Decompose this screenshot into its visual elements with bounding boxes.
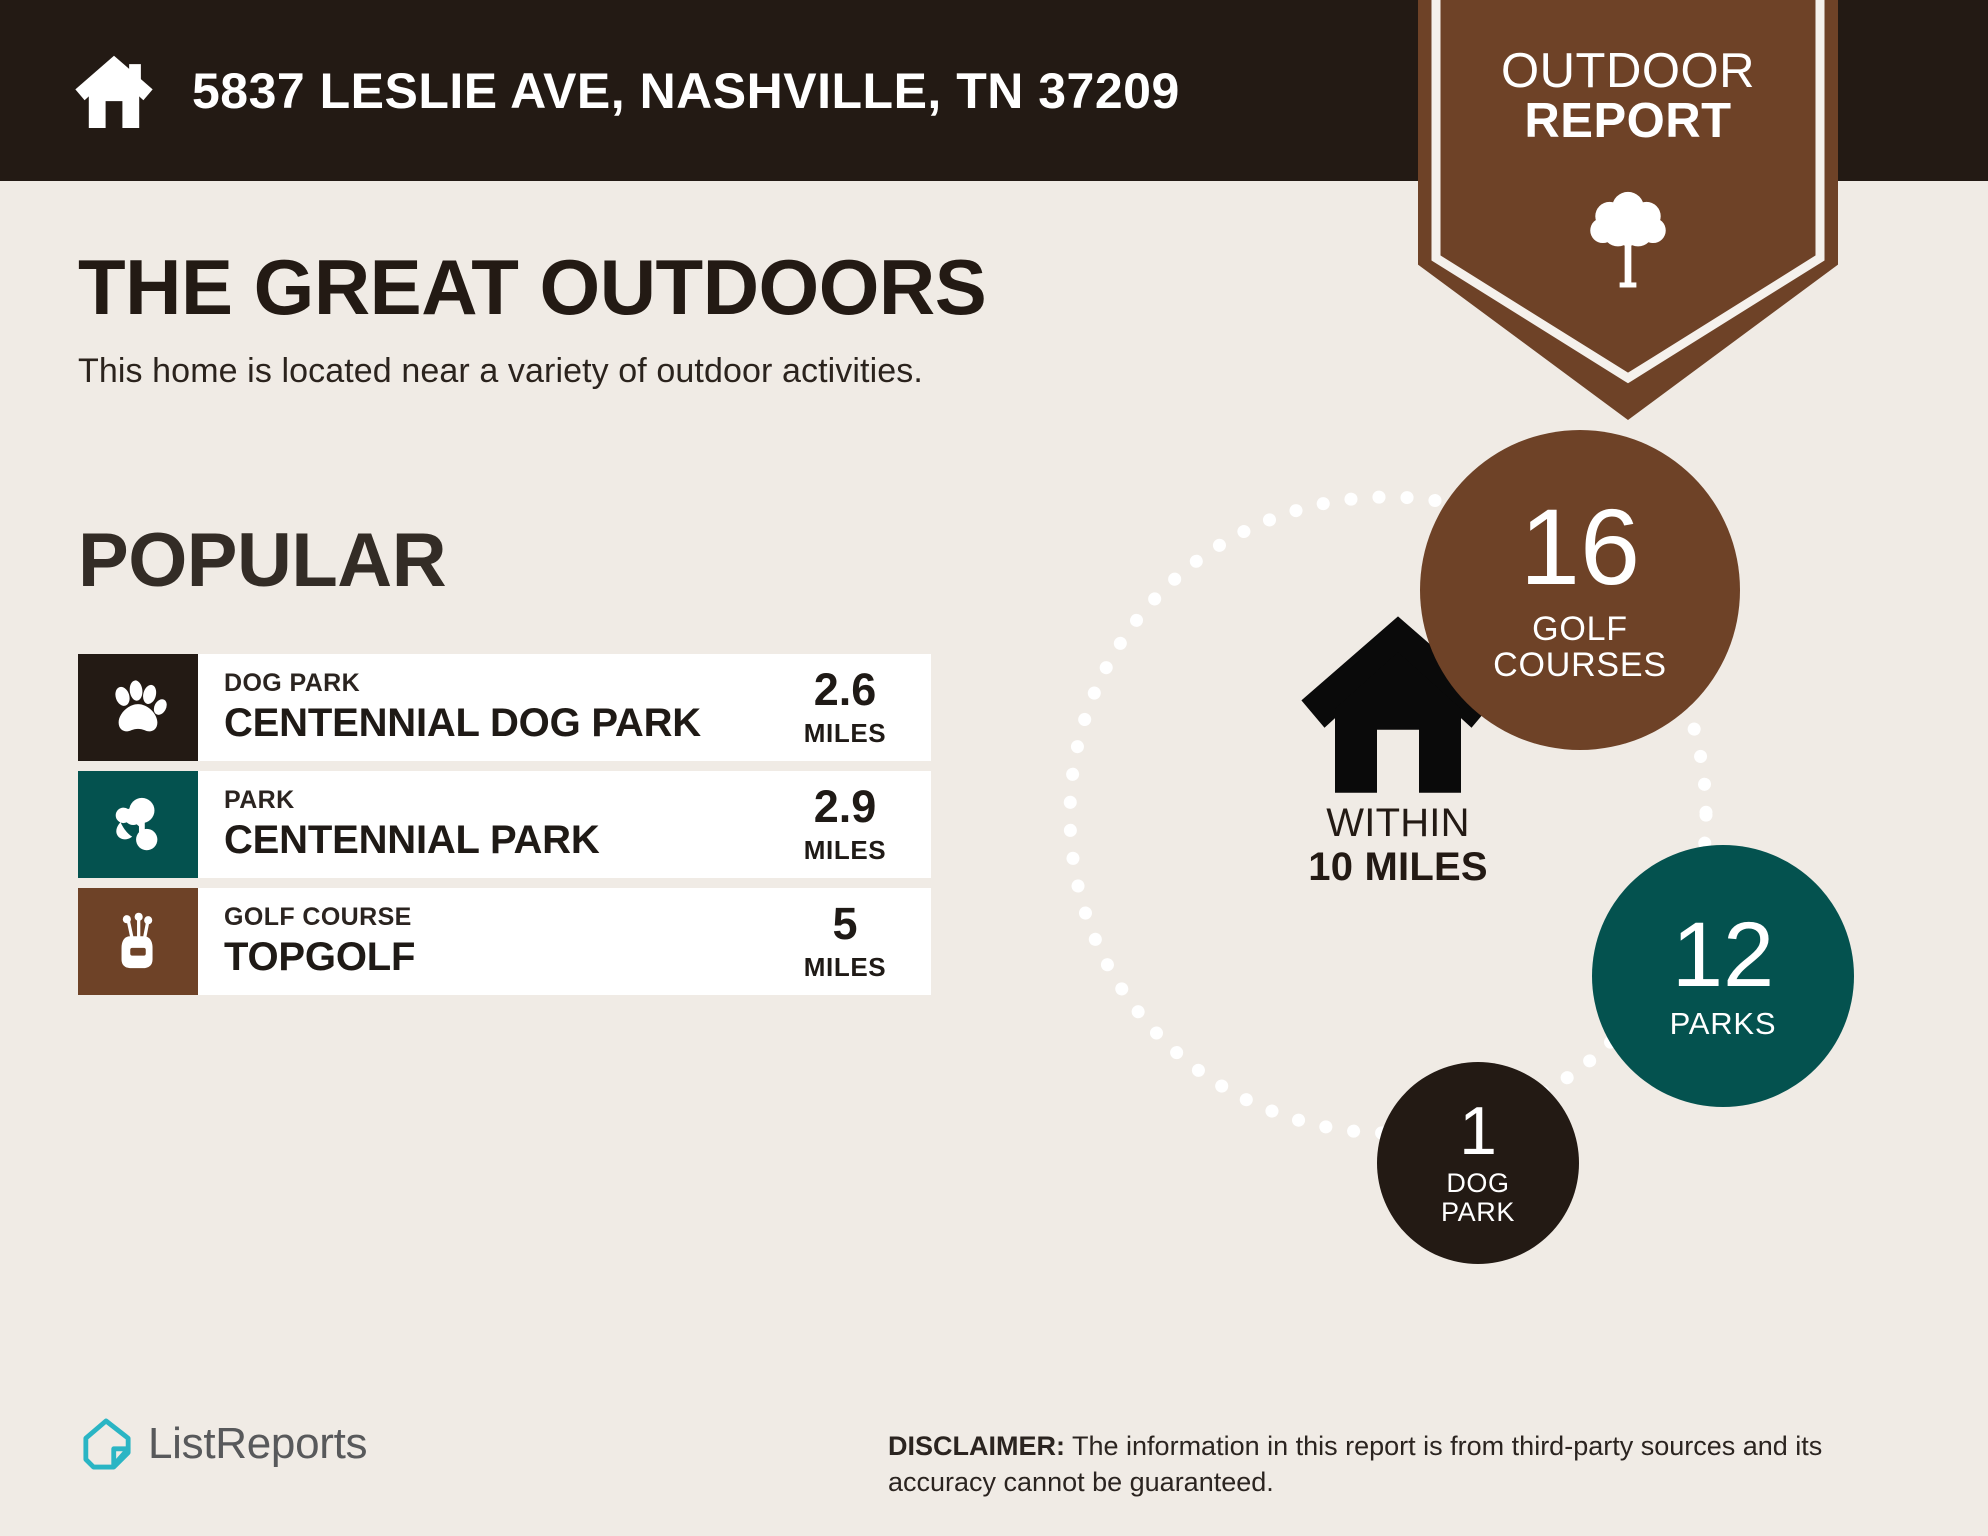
trees-icon-box bbox=[78, 771, 198, 878]
stat-label: DOG PARK bbox=[1441, 1169, 1515, 1227]
stat-circle-dog-park[interactable]: 1 DOG PARK bbox=[1377, 1062, 1579, 1264]
badge-title: OUTDOOR REPORT bbox=[1418, 46, 1838, 147]
stat-label-line-1: DOG bbox=[1446, 1168, 1509, 1198]
stat-value: 1 bbox=[1459, 1099, 1497, 1164]
list-item-text: PARK CENTENNIAL PARK bbox=[198, 771, 781, 878]
page-subtitle: This home is located near a variety of o… bbox=[78, 352, 986, 391]
golf-bag-icon bbox=[107, 911, 169, 973]
popular-section-heading: POPULAR bbox=[78, 523, 446, 599]
stat-label-line-2: PARK bbox=[1441, 1197, 1515, 1227]
proximity-diagram: WITHIN 10 MILES 16 GOLF COURSES 12 PARKS… bbox=[1020, 430, 1870, 1330]
stat-label: PARKS bbox=[1670, 1007, 1777, 1040]
stat-label-line-1: GOLF bbox=[1532, 610, 1628, 648]
list-item-name: TOPGOLF bbox=[224, 935, 781, 979]
stat-value: 16 bbox=[1520, 496, 1640, 599]
stat-value: 12 bbox=[1672, 912, 1774, 999]
center-label-line-1: WITHIN bbox=[1293, 801, 1503, 845]
page-title: THE GREAT OUTDOORS bbox=[78, 248, 986, 326]
paw-icon-box bbox=[78, 654, 198, 761]
list-item[interactable]: PARK CENTENNIAL PARK 2.9 MILES bbox=[78, 771, 931, 878]
stat-label-line-1: PARKS bbox=[1670, 1006, 1777, 1041]
list-item-text: GOLF COURSE TOPGOLF bbox=[198, 888, 781, 995]
stat-label-line-2: COURSES bbox=[1493, 646, 1667, 684]
list-item-distance-unit: MILES bbox=[804, 952, 886, 983]
listreports-logo[interactable]: ListReports bbox=[82, 1418, 367, 1470]
paw-icon bbox=[107, 677, 169, 739]
list-item-name: CENTENNIAL DOG PARK bbox=[224, 701, 781, 745]
property-address: 5837 LESLIE AVE, NASHVILLE, TN 37209 bbox=[192, 62, 1180, 120]
trees-icon bbox=[107, 794, 169, 856]
list-item-category: PARK bbox=[224, 787, 781, 815]
outdoor-report-badge: OUTDOOR REPORT bbox=[1418, 0, 1838, 420]
list-item-distance-value: 2.9 bbox=[814, 784, 877, 829]
title-block: THE GREAT OUTDOORS This home is located … bbox=[78, 248, 986, 391]
list-item-distance: 2.6 MILES bbox=[781, 654, 931, 761]
list-item-distance-value: 2.6 bbox=[814, 667, 877, 712]
listreports-house-icon bbox=[82, 1418, 132, 1470]
list-item-distance: 5 MILES bbox=[781, 888, 931, 995]
center-label-line-2: 10 MILES bbox=[1293, 845, 1503, 889]
disclaimer-label: DISCLAIMER: bbox=[888, 1431, 1065, 1461]
list-item[interactable]: GOLF COURSE TOPGOLF 5 MILES bbox=[78, 888, 931, 995]
list-item-category: GOLF COURSE bbox=[224, 904, 781, 932]
stat-circle-golf-courses[interactable]: 16 GOLF COURSES bbox=[1420, 430, 1740, 750]
tree-icon bbox=[1586, 186, 1670, 290]
home-icon bbox=[72, 49, 156, 133]
listreports-logo-text: ListReports bbox=[148, 1419, 367, 1469]
list-item-text: DOG PARK CENTENNIAL DOG PARK bbox=[198, 654, 781, 761]
list-item-distance-unit: MILES bbox=[804, 835, 886, 866]
badge-title-line-1: OUTDOOR bbox=[1418, 46, 1838, 96]
list-item-distance: 2.9 MILES bbox=[781, 771, 931, 878]
stat-label: GOLF COURSES bbox=[1493, 611, 1667, 684]
stat-circle-parks[interactable]: 12 PARKS bbox=[1592, 845, 1854, 1107]
disclaimer: DISCLAIMER: The information in this repo… bbox=[888, 1428, 1923, 1500]
list-item-distance-unit: MILES bbox=[804, 718, 886, 749]
list-item-category: DOG PARK bbox=[224, 670, 781, 698]
golf-bag-icon-box bbox=[78, 888, 198, 995]
list-item[interactable]: DOG PARK CENTENNIAL DOG PARK 2.6 MILES bbox=[78, 654, 931, 761]
list-item-distance-value: 5 bbox=[832, 901, 857, 946]
badge-title-line-2: REPORT bbox=[1418, 96, 1838, 146]
list-item-name: CENTENNIAL PARK bbox=[224, 818, 781, 862]
popular-list: DOG PARK CENTENNIAL DOG PARK 2.6 MILES bbox=[78, 654, 931, 1005]
